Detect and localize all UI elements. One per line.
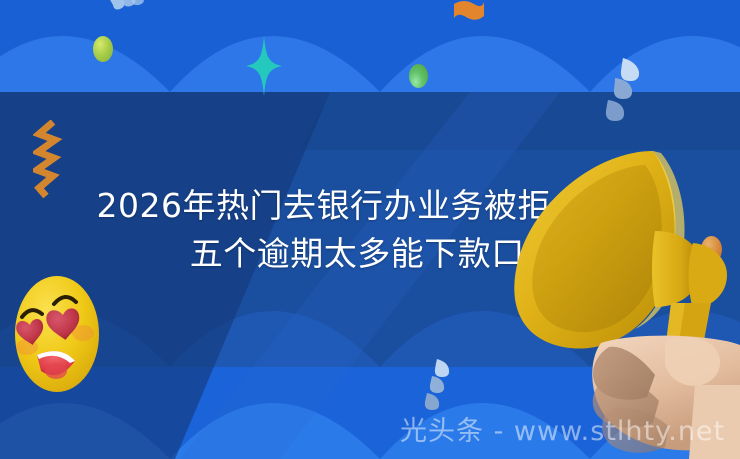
ribbon-flag-orange-icon	[452, 0, 486, 26]
ribbon-spiral-blue-bottom-icon	[421, 358, 453, 414]
confetti-ball-green-right-icon	[409, 64, 428, 88]
banner-image: 2026年热门去银行办业务被拒，整理 五个逾期太多能下款口子 光头条 - www…	[0, 0, 740, 459]
sparkle-teal-icon	[246, 36, 282, 96]
watermark-text: 光头条 - www.stlhty.net	[400, 409, 725, 448]
ribbon-spiral-blue-right-icon	[601, 56, 643, 128]
ribbon-spiral-blue-topleft-icon	[105, 0, 145, 26]
confetti-ball-green-left-icon	[93, 36, 113, 62]
emoji-heart-eyes-icon	[14, 275, 100, 393]
